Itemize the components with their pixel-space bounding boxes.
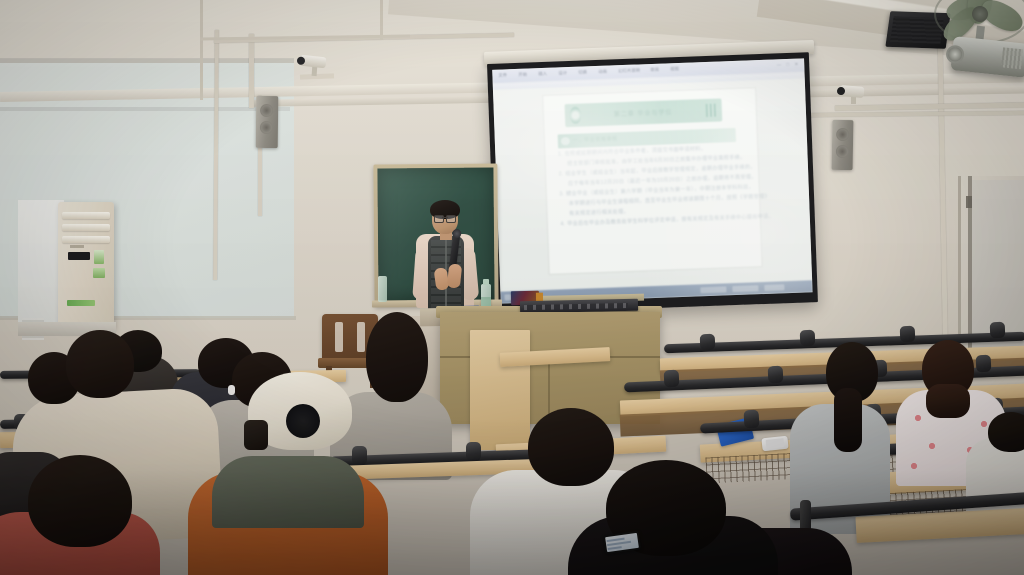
current-slide: 第二章 毕业与学位 一、毕业资格审核 1. 在校或延期期间内符合毕业条件者，须提… <box>543 88 762 273</box>
ac-louver <box>62 236 110 243</box>
slide-title-bullet-icon <box>569 107 581 124</box>
speaker-grill-icon <box>836 145 849 158</box>
chair-backrest-slot <box>335 322 343 352</box>
rail-post-cap <box>768 366 784 384</box>
section-bullet-icon <box>561 137 570 146</box>
menu-item-design[interactable]: 设计 <box>558 70 567 76</box>
camera-lens-icon <box>297 56 306 65</box>
door-hinge <box>966 196 972 208</box>
menu-item-animations[interactable]: 动画 <box>598 69 607 75</box>
ac-brand-mark <box>70 245 84 248</box>
rail-post-cap <box>800 330 816 347</box>
wall-panel-edge-mid <box>0 107 290 111</box>
doorway-opening <box>972 180 1024 372</box>
menu-item-insert[interactable]: 插入 <box>538 71 547 77</box>
camera-lens-icon <box>837 87 846 96</box>
menu-item-slideshow[interactable]: 幻灯片放映 <box>618 67 640 74</box>
glasses-icon <box>434 215 456 221</box>
ceiling-fan-hub <box>972 6 988 22</box>
glasses-bridge <box>442 217 448 218</box>
rail-post-cap <box>900 326 916 343</box>
ac-louver <box>62 212 110 219</box>
amplifier-front-panel <box>524 303 628 310</box>
taskbar-window-item[interactable] <box>732 285 758 292</box>
bottle-cap <box>483 279 489 285</box>
rail-post-cap <box>466 442 481 461</box>
hair-strands <box>926 384 970 418</box>
rail-post-cap <box>700 334 716 351</box>
menu-item-home[interactable]: 开始 <box>518 72 527 78</box>
rail-post-cap <box>976 355 992 373</box>
student-hair-under-cap <box>244 420 268 450</box>
student-head <box>366 312 428 402</box>
projection-screen: 文件 开始 插入 设计 切换 动画 幻灯片放映 审阅 视图 — □ ✕ <box>487 52 818 314</box>
wall-speaker-right <box>832 120 854 170</box>
taskbar-window-item[interactable] <box>700 286 726 293</box>
rail-post-cap <box>744 410 760 429</box>
taskbar-tray-icon[interactable] <box>764 284 784 291</box>
rail-post-cap <box>352 446 367 465</box>
water-bottle-secondary[interactable] <box>378 276 387 302</box>
floor-standing-air-conditioner[interactable] <box>58 202 114 330</box>
slide-title: 第二章 毕业与学位 <box>581 106 706 120</box>
ponytail <box>834 388 862 452</box>
screen-surface: 文件 开始 插入 设计 切换 动画 幻灯片放映 审阅 视图 — □ ✕ <box>492 58 812 303</box>
window-control-buttons[interactable]: — □ ✕ <box>777 62 801 69</box>
speaker-grill-icon <box>836 128 849 141</box>
desk-side-panel <box>470 330 530 450</box>
menu-item-view[interactable]: 视图 <box>670 66 679 72</box>
ac-louver <box>62 224 110 231</box>
lecture-hall-photo: 文件 开始 插入 设计 切换 动画 幻灯片放映 审阅 视图 — □ ✕ <box>0 0 1024 575</box>
projector-vent <box>1001 47 1023 69</box>
speaker-grill-icon <box>260 121 273 134</box>
student-head <box>988 412 1024 452</box>
menu-item-file[interactable]: 文件 <box>498 72 507 78</box>
white-smartphone-on-desk[interactable] <box>761 436 788 452</box>
student-head <box>28 455 132 547</box>
rail-post-cap <box>990 322 1006 339</box>
menu-item-transitions[interactable]: 切换 <box>578 69 587 75</box>
wall-conduit-pipe <box>249 34 254 108</box>
earbud-icon <box>228 385 235 395</box>
ac-green-label <box>93 268 105 278</box>
rail-post-cap <box>664 370 680 388</box>
slide-body: 1. 在校或延期期间内符合毕业条件者，须提交书面申请材料， 经主管部门审核批准，… <box>558 144 749 263</box>
slide-title-bar: 第二章 毕业与学位 <box>565 98 723 127</box>
ac-sticker <box>67 300 95 306</box>
chair-backrest-slot <box>357 322 365 352</box>
ac-display-panel <box>68 252 90 260</box>
slide-title-badge-icon <box>705 103 716 117</box>
ac-energy-badge <box>94 250 104 264</box>
student-head <box>528 408 614 486</box>
security-camera-icon <box>840 85 865 98</box>
menu-item-review[interactable]: 审阅 <box>650 67 659 73</box>
wall-speaker-left <box>256 96 279 148</box>
wall-seam <box>200 0 203 100</box>
student-hoodie-collar <box>212 456 364 528</box>
phone-screen <box>766 438 785 449</box>
slide-section-header: 一、毕业资格审核 <box>573 136 618 145</box>
slide-canvas: 第二章 毕业与学位 一、毕业资格审核 1. 在校或延期期间内符合毕业条件者，须提… <box>493 78 812 291</box>
student-head <box>66 330 134 398</box>
speaker-grill-icon <box>260 104 273 117</box>
cap-logo-icon <box>286 404 320 438</box>
